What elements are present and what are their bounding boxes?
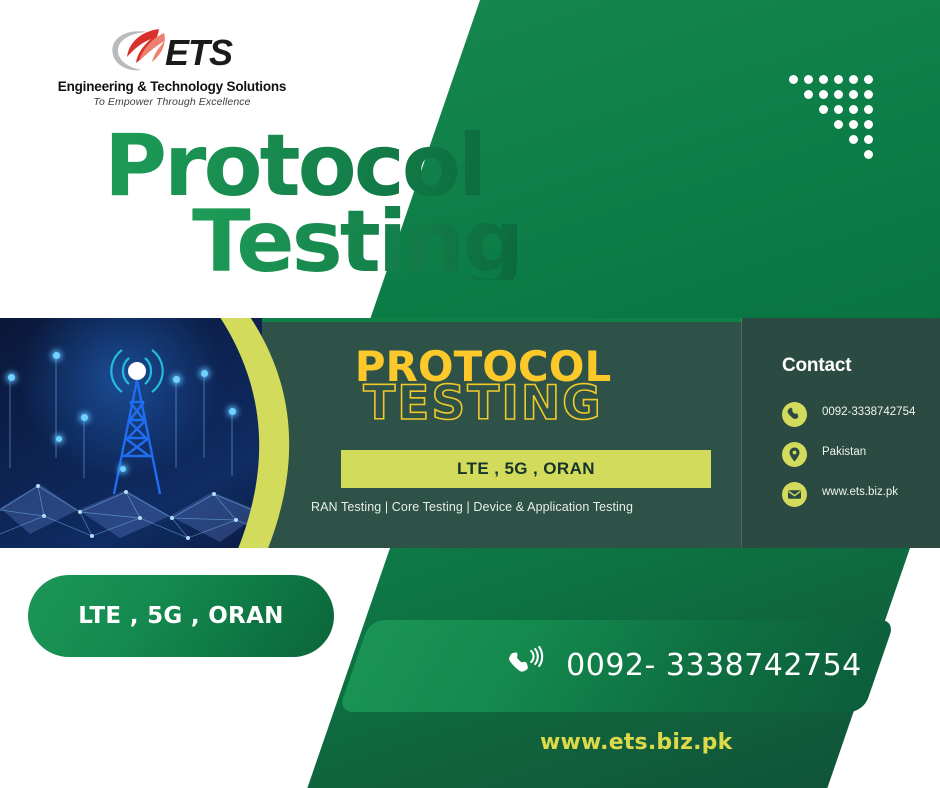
banner-main-panel: PROTOCOL TESTING LTE , 5G , ORAN RAN Tes… xyxy=(238,318,728,548)
dot xyxy=(849,135,858,144)
dot xyxy=(804,75,813,84)
ets-tagline-primary: Engineering & Technology Solutions xyxy=(57,79,287,94)
dot xyxy=(864,135,873,144)
envelope-icon xyxy=(782,482,807,507)
dot xyxy=(834,90,843,99)
contact-phone-value: 0092-3338742754 xyxy=(822,406,915,418)
dot xyxy=(864,120,873,129)
ets-wordmark: ETS xyxy=(165,35,232,71)
poster-canvas: ETS Engineering & Technology Solutions T… xyxy=(0,0,940,788)
tech-bar-label: LTE , 5G , ORAN xyxy=(341,450,711,488)
phone-ring-icon xyxy=(504,644,552,688)
dot xyxy=(804,90,813,99)
tech-pill-label: LTE , 5G , ORAN xyxy=(28,575,334,657)
dot xyxy=(864,150,873,159)
dot xyxy=(834,120,843,129)
dot-matrix-decoration xyxy=(789,75,883,159)
dot xyxy=(849,120,858,129)
footer-phone-row[interactable]: 0092- 3338742754 xyxy=(504,644,552,688)
dot xyxy=(834,105,843,114)
dot xyxy=(864,105,873,114)
promo-banner: PROTOCOL TESTING LTE , 5G , ORAN RAN Tes… xyxy=(0,318,940,548)
dot xyxy=(849,90,858,99)
tech-pill[interactable]: LTE , 5G , ORAN xyxy=(28,575,334,657)
contact-location-value: Pakistan xyxy=(822,446,866,458)
footer-phone-band: 0092- 3338742754 xyxy=(338,620,895,712)
location-pin-icon xyxy=(782,442,807,467)
hero-title: Protocol Testing xyxy=(104,130,624,305)
dot xyxy=(819,90,828,99)
banner-title-outline: TESTING xyxy=(238,380,728,427)
dot xyxy=(849,105,858,114)
phone-icon xyxy=(782,402,807,427)
contact-website-value: www.ets.biz.pk xyxy=(822,486,898,498)
dot xyxy=(834,75,843,84)
dot xyxy=(864,75,873,84)
services-line: RAN Testing | Core Testing | Device & Ap… xyxy=(238,500,706,514)
contact-heading: Contact xyxy=(782,355,851,377)
dot xyxy=(819,105,828,114)
hero-title-line2: Testing xyxy=(192,206,624,280)
contact-panel: Contact 0092-3338742754 Pakistan xyxy=(742,318,940,548)
tech-bar: LTE , 5G , ORAN xyxy=(341,450,711,488)
dot xyxy=(819,75,828,84)
dot xyxy=(849,75,858,84)
ets-tagline-secondary: To Empower Through Excellence xyxy=(57,96,287,108)
footer-phone-value: 0092- 3338742754 xyxy=(566,648,862,683)
dot xyxy=(864,90,873,99)
dot xyxy=(789,75,798,84)
footer-website[interactable]: www.ets.biz.pk xyxy=(540,730,732,755)
ets-logo: ETS Engineering & Technology Solutions T… xyxy=(57,27,287,107)
